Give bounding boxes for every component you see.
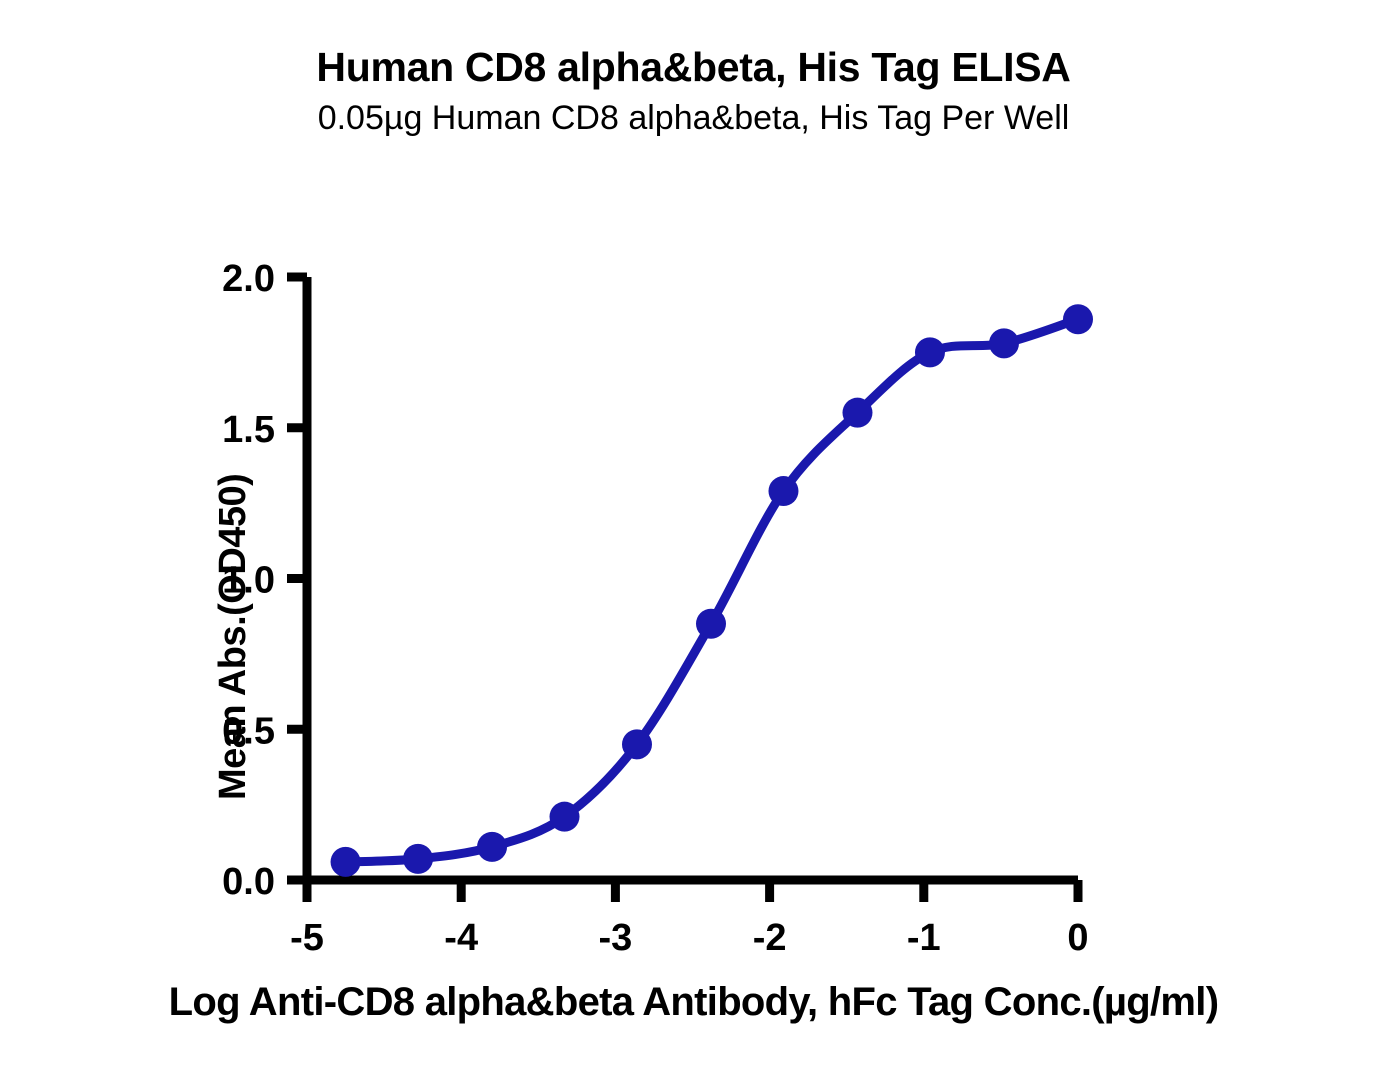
svg-text:-4: -4 [444,917,478,959]
data-point [842,398,872,428]
data-point [622,729,652,759]
data-point [989,328,1019,358]
svg-text:-1: -1 [907,917,941,959]
elisa-chart-figure: Human CD8 alpha&beta, His Tag ELISA 0.05… [0,0,1387,1077]
data-point [403,844,433,874]
svg-text:-3: -3 [599,917,633,959]
axis-lines [287,277,1078,902]
y-axis-label: Mean Abs.(OD450) [212,160,255,800]
fit-curve [346,319,1078,862]
svg-text:0: 0 [1067,917,1088,959]
data-point [331,847,361,877]
x-axis-label: Log Anti-CD8 alpha&beta Antibody, hFc Ta… [0,980,1387,1025]
data-point [696,609,726,639]
plot-area: 0.00.51.01.52.0 -5-4-3-2-10 [0,0,1387,1077]
data-point [915,337,945,367]
data-point [550,802,580,832]
svg-text:-5: -5 [290,917,324,959]
data-point [768,476,798,506]
data-point [477,832,507,862]
x-axis-tick-labels: -5-4-3-2-10 [290,917,1088,959]
svg-text:0.0: 0.0 [222,861,275,903]
data-point-markers [331,304,1093,877]
svg-text:-2: -2 [753,917,787,959]
data-point [1063,304,1093,334]
